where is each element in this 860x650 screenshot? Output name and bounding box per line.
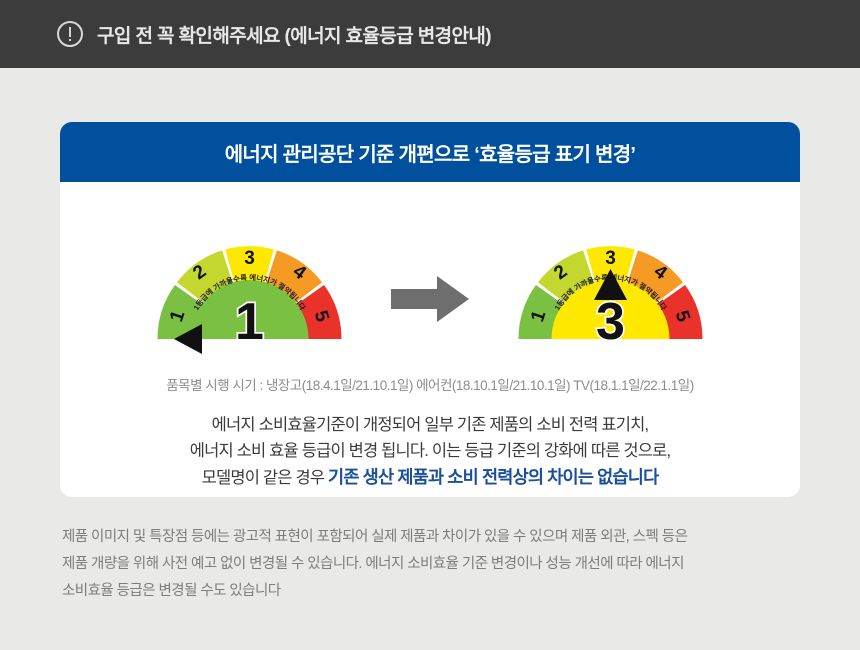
notice-card: 에너지 관리공단 기준 개편으로 ‘효율등급 표기 변경’ 1 (60, 122, 800, 497)
body-copy-highlight: 기존 생산 제품과 소비 전력상의 차이는 없습니다 (328, 467, 658, 487)
body-copy-line-3-plain: 모델명이 같은 경우 (202, 469, 328, 487)
body-copy-line-2: 에너지 소비 효율 등급이 변경 됩니다. 이는 등급 기준의 강화에 따른 것… (60, 438, 800, 464)
after-gauge-grade-number: 3 (596, 293, 625, 351)
body-copy: 에너지 소비효율기준이 개정되어 일부 기존 제품의 소비 전력 표기치, 에너… (60, 412, 800, 491)
after-gauge: 1 2 3 4 5 1등급에 가까울수록 에너지가 절약됩니다 3 (478, 212, 743, 357)
card-banner-title: 에너지 관리공단 기준 개편으로 ‘효율등급 표기 변경’ (60, 122, 800, 182)
disclaimer-line-2: 제품 개량을 위해 사전 예고 없이 변경될 수 있습니다. 에너지 소비효율 … (62, 551, 802, 578)
gauge-comparison-row: 1 2 3 4 5 1등급에 가까울수록 에너지가 절약됩니다 1 (60, 204, 800, 364)
page-root: 구입 전 꼭 확인해주세요 (에너지 효율등급 변경안내) 에너지 관리공단 기… (0, 0, 860, 650)
page-title: 구입 전 꼭 확인해주세요 (에너지 효율등급 변경안내) (97, 21, 491, 48)
disclaimer-text: 제품 이미지 및 특장점 등에는 광고적 표현이 포함되어 실제 제품과 차이가… (62, 524, 802, 605)
disclaimer-line-1: 제품 이미지 및 특장점 등에는 광고적 표현이 포함되어 실제 제품과 차이가… (62, 524, 802, 551)
after-segment-label-3: 3 (605, 248, 616, 269)
disclaimer-line-3: 소비효율 등급은 변경될 수도 있습니다 (62, 578, 802, 605)
before-gauge: 1 2 3 4 5 1등급에 가까울수록 에너지가 절약됩니다 1 (117, 212, 382, 357)
right-arrow-icon (389, 274, 471, 324)
body-copy-line-3: 모델명이 같은 경우 기존 생산 제품과 소비 전력상의 차이는 없습니다 (60, 464, 800, 491)
before-segment-label-3: 3 (244, 248, 255, 269)
header-bar: 구입 전 꼭 확인해주세요 (에너지 효율등급 변경안내) (0, 0, 860, 68)
schedule-text: 품목별 시행 시기 : 냉장고(18.4.1일/21.10.1일) 에어컨(18… (60, 374, 800, 394)
exclamation-circle-icon (57, 21, 83, 47)
before-gauge-grade-number: 1 (235, 293, 264, 351)
body-copy-line-1: 에너지 소비효율기준이 개정되어 일부 기존 제품의 소비 전력 표기치, (60, 412, 800, 438)
